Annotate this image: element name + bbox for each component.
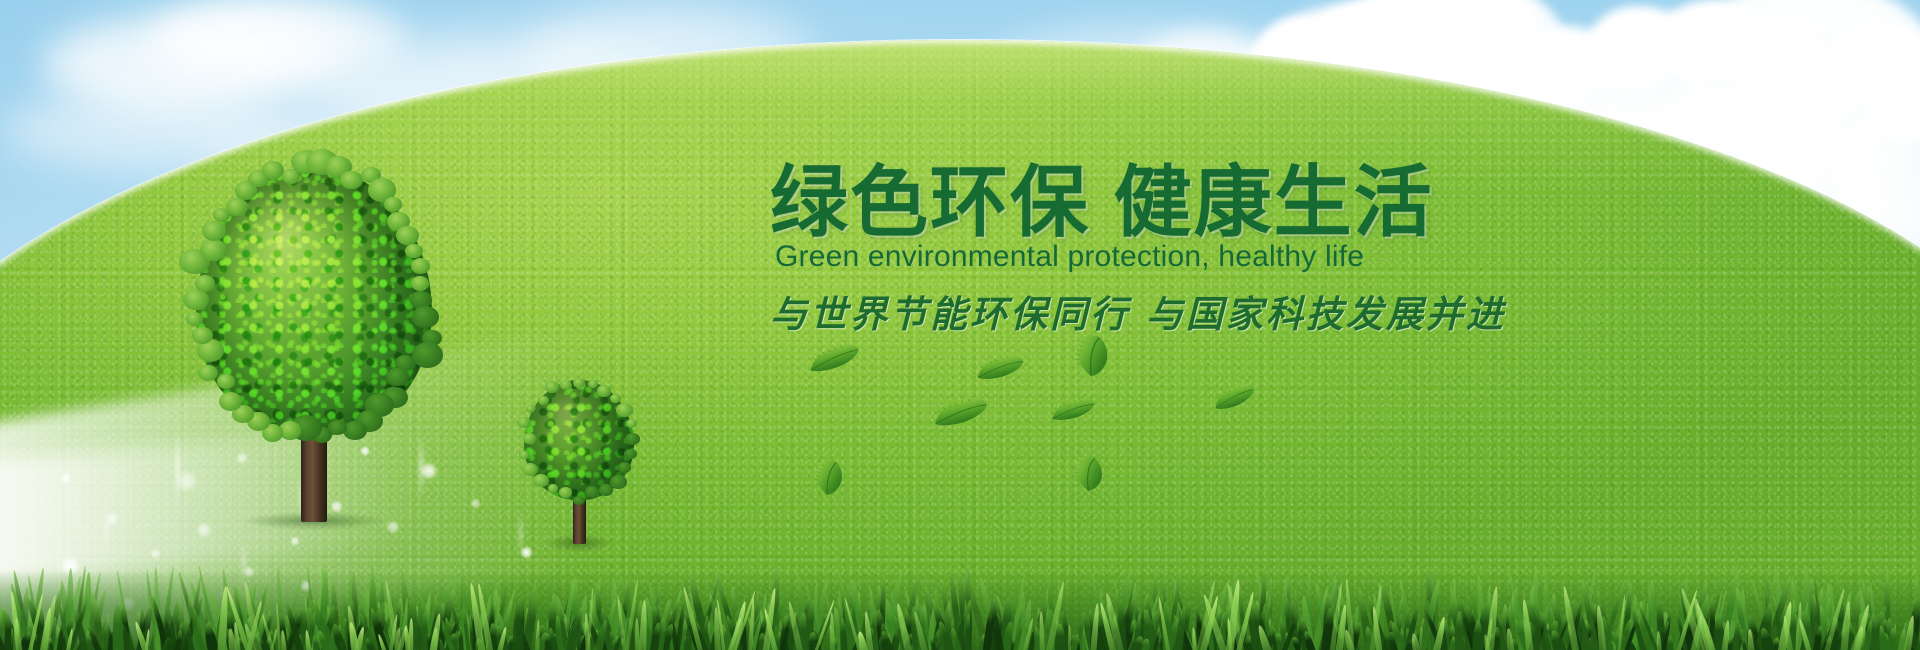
sparkle (176, 470, 198, 492)
sparkle (60, 472, 72, 484)
large-tree (196, 168, 432, 522)
tree-foliage-clump (560, 380, 572, 390)
tree-foliage-clump (533, 474, 549, 487)
tree-foliage-clump (588, 380, 598, 388)
eco-banner: 绿色环保 健康生活 Green environmental protection… (0, 0, 1920, 650)
foreground-grass-band (0, 535, 1920, 650)
tree-foliage-clump (522, 463, 538, 476)
sparkle (470, 498, 481, 509)
tree-foliage-clump (200, 239, 227, 261)
tree-foliage-clump (624, 449, 637, 460)
tree-foliage-clump (548, 484, 558, 492)
tree-foliage-clump (519, 451, 530, 460)
tree-foliage-clump (618, 462, 631, 473)
tree-foliage-clump (202, 221, 226, 241)
tree-foliage-clump (384, 197, 403, 212)
tree-foliage-clump (625, 433, 640, 445)
subtitle-english: Green environmental protection, healthy … (775, 240, 1364, 274)
tree-foliage-clump (195, 275, 216, 292)
tree-foliage-clump (626, 419, 637, 428)
tree-foliage-clump (396, 226, 418, 244)
headline-title: 绿色环保 健康生活 (770, 140, 1434, 252)
tree-foliage-clump (545, 381, 559, 393)
tree-foliage-clump (538, 396, 549, 405)
tree-foliage-clump (526, 405, 536, 413)
tree-foliage-clump (599, 484, 613, 495)
small-tree (524, 380, 634, 544)
grass-blade-highlight (1068, 625, 1071, 650)
tree-foliage-clump (585, 486, 599, 497)
tree-foliage-clump (343, 421, 366, 440)
tree-foliage-clump (226, 198, 248, 216)
subtitle-chinese-calligraphy: 与世界节能环保同行 与国家科技发展并进 (770, 284, 1506, 338)
tree-foliage-clump (192, 327, 213, 344)
tree-foliage-clump (517, 417, 531, 428)
sparkle (386, 520, 400, 534)
light-streak (176, 432, 179, 506)
tree-foliage-clump (412, 342, 443, 367)
sparkle (105, 512, 119, 526)
tree-foliage-clump (559, 487, 572, 498)
tree-foliage-clump (573, 496, 585, 506)
tree-foliage-clump (412, 306, 439, 328)
tree-foliage-clump (610, 475, 627, 489)
tree-foliage-clump (573, 378, 585, 388)
tree-foliage-clump (386, 368, 408, 386)
tree-foliage-clump (217, 374, 235, 389)
tree-foliage-clump (616, 403, 632, 416)
tree-foliage-clump (340, 171, 363, 189)
